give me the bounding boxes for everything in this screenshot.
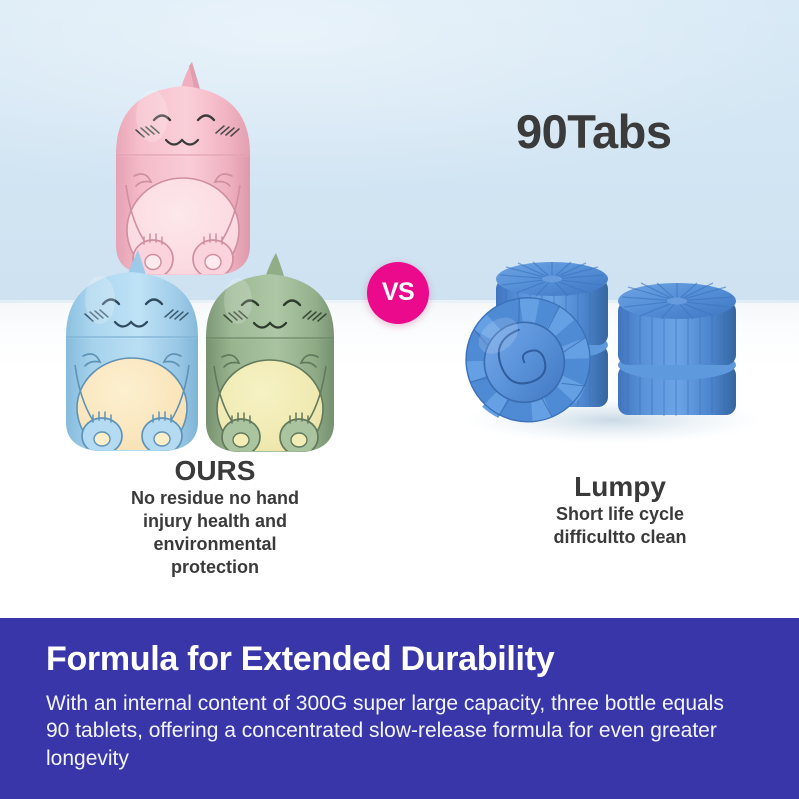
caption-lumpy-line-1: Short life cycle [475, 503, 765, 526]
tabs-count-heading: 90Tabs [516, 108, 672, 155]
caption-lumpy-title: Lumpy [475, 472, 765, 501]
vs-badge: VS [367, 262, 429, 324]
feature-banner-body: With an internal content of 300G super l… [46, 690, 736, 773]
product-infographic: 90Tabs VS [0, 0, 799, 799]
hero-product-photo: 90Tabs VS [0, 0, 799, 618]
caption-lumpy: Lumpy Short life cycle difficultto clean [475, 472, 765, 549]
blue-dinosaur-bottle [56, 250, 208, 455]
green-dinosaur-bottle [196, 253, 344, 455]
blue-cleaning-tablets [438, 215, 758, 455]
feature-banner: Formula for Extended Durability With an … [0, 618, 799, 799]
caption-ours-line-1: No residue no hand [75, 487, 355, 510]
caption-ours-line-2: injury health and [75, 510, 355, 533]
vs-badge-label: VS [382, 280, 414, 305]
feature-banner-title: Formula for Extended Durability [46, 642, 753, 678]
caption-ours-line-3: environmental [75, 533, 355, 556]
caption-ours-title: OURS [75, 456, 355, 485]
caption-ours-line-4: protection [75, 556, 355, 579]
caption-ours: OURS No residue no hand injury health an… [75, 456, 355, 580]
caption-lumpy-line-2: difficultto clean [475, 526, 765, 549]
